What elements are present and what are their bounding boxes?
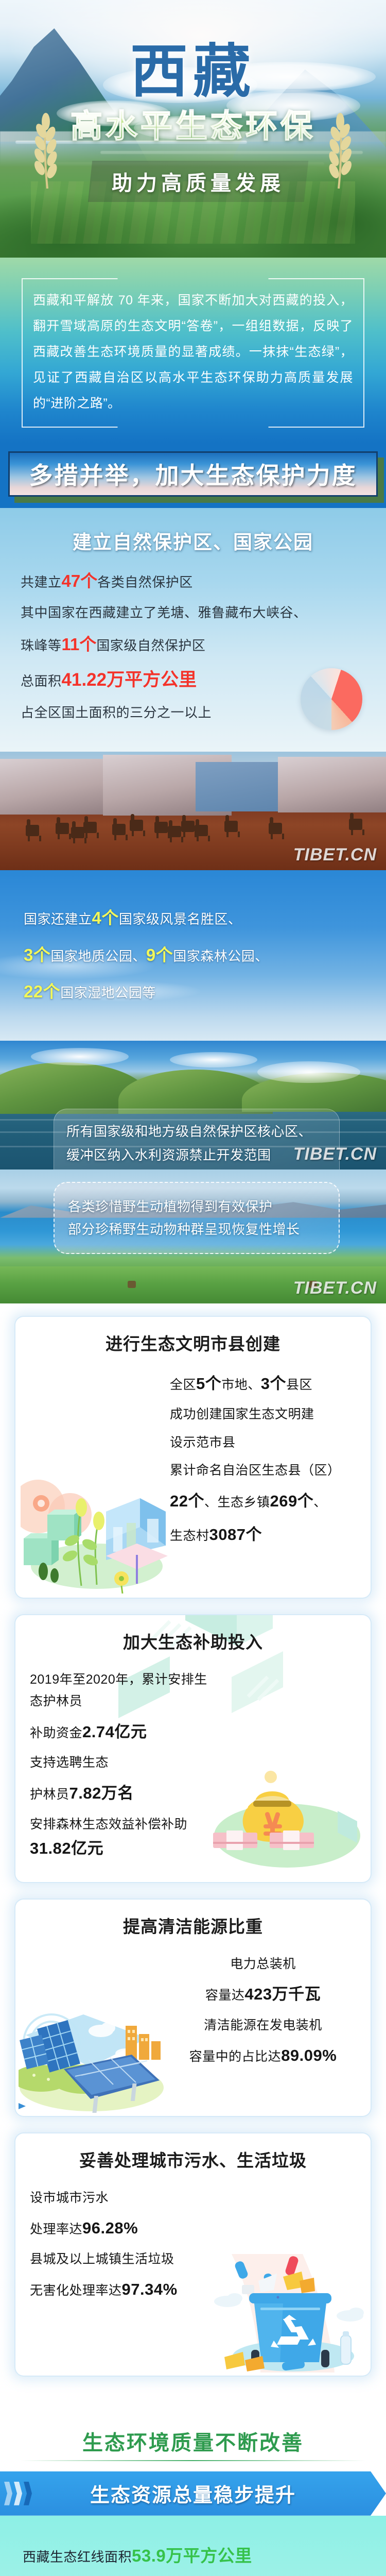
caption-line: 部分珍稀野生动物种群呈现恢复性增长	[68, 1218, 325, 1241]
stat-number: 31.82亿元	[30, 1839, 103, 1857]
stat-number: 423万千瓦	[244, 1985, 321, 2003]
stat-line: 22个、生态乡镇269个、	[170, 1488, 356, 1515]
stat-post: 各类自然保护区	[97, 574, 193, 590]
section1-banner-wrap: 多措并举，加大生态保护力度	[0, 443, 386, 508]
section1-banner: 多措并举，加大生态保护力度	[8, 451, 378, 497]
wildlife-protection-card: 各类珍惜野生动植物得到有效保护 部分珍稀野生动物种群呈现恢复性增长	[54, 1182, 340, 1254]
stat-number: 47个	[62, 571, 98, 590]
stat-line: 处理率达96.28%	[30, 2215, 216, 2242]
stat-line: 清洁能源在发电装机	[170, 2014, 356, 2037]
stat-line: 设市城市污水	[30, 2187, 216, 2209]
card-body: 全区5个市地、3个县区 成功创建国家生态文明建 设示范市县 累计命名自治区生态县…	[15, 1355, 371, 1568]
stat-line: 补助资金2.74亿元	[30, 1719, 216, 1746]
stat-number: 53.9万平方公里	[132, 2546, 252, 2565]
nature-reserve-header: 建立自然保护区、国家公园	[21, 527, 365, 554]
stat-pre: 共建立	[21, 574, 62, 590]
clean-energy-card: 提高清洁能源比重	[15, 1900, 371, 2116]
stat-number: 9个	[146, 945, 173, 964]
sewage-waste-card: 妥善处理城市污水、生活垃圾	[15, 2133, 371, 2376]
stat-line: 生态村3087个	[170, 1521, 356, 1549]
hero-banner: 西藏	[0, 0, 386, 258]
stat-line: 3个国家地质公园、9个国家森林公园、	[24, 942, 362, 968]
stat-line: 成功创建国家生态文明建	[170, 1403, 356, 1426]
eco-resource-stats: 西藏生态红线面积53.9万平方公里 占全区国土面积的45% 2020年，全区森林…	[0, 2516, 386, 2576]
stat-line: 共建立47个各类自然保护区	[21, 568, 365, 594]
hero-subtitle2: 助力高质量发展	[112, 166, 285, 196]
stat-number: 3087个	[209, 1526, 262, 1544]
stat-line: 安排森林生态效益补偿补助31.82亿元	[30, 1814, 216, 1862]
card-title: 妥善处理城市污水、生活垃圾	[15, 2133, 371, 2172]
ribbon-eco-resources: 生态资源总量稳步提升	[0, 2471, 386, 2516]
divider	[21, 2460, 365, 2461]
card-title: 进行生态文明市县创建	[15, 1317, 371, 1355]
protected-area-share-pie	[301, 668, 362, 730]
hero-subtitle2-plate: 助力高质量发展	[88, 161, 308, 202]
photo-watermark: TIBET.CN	[293, 1278, 377, 1298]
eco-county-card: 进行生态文明市县创建	[15, 1317, 371, 1598]
stat-number: 5个	[196, 1375, 221, 1393]
card-body: 设市城市污水 处理率达96.28% 县城及以上城镇生活垃圾 无害化处理率达97.…	[15, 2172, 371, 2323]
stat-line: 所有国家级和地方级自然保护区核心区、	[66, 1120, 327, 1143]
stat-number: 4个	[92, 908, 119, 927]
stat-number: 11个	[62, 635, 97, 654]
stat-line: 缓冲区纳入水利资源禁止开发范围	[66, 1143, 327, 1167]
card-body: 电力总装机 容量达423万千瓦 清洁能源在发电装机 容量中的占比达89.09%	[15, 1938, 371, 2089]
stat-line: 容量达423万千瓦	[170, 1981, 356, 2008]
stat-post: 国家湿地公园等	[60, 985, 156, 1001]
section1-banner-label: 多措并举，加大生态保护力度	[29, 457, 357, 491]
card-title: 加大生态补助投入	[15, 1615, 371, 1653]
stat-line: 县城及以上城镇生活垃圾	[30, 2248, 216, 2270]
wild-kiang-herd-photo: TIBET.CN	[0, 752, 386, 870]
hero-subtitle: 高水平生态环保	[0, 111, 386, 143]
photo-watermark: TIBET.CN	[293, 1144, 377, 1164]
stat-line: 支持选聘生态	[30, 1752, 216, 1774]
stat-number: 96.28%	[82, 2219, 138, 2237]
stat-pre: 国家还建立	[24, 911, 92, 927]
stat-pre: 其中国家在西藏建立了羌塘、雅鲁藏布大峡谷、	[21, 605, 307, 620]
stat-number: 7.82万名	[69, 1784, 134, 1802]
namtso-lake-antelope-photo: 各类珍惜野生动植物得到有效保护 部分珍稀野生动物种群呈现恢复性增长 TIBET.…	[0, 1170, 386, 1303]
stat-line: 珠峰等11个国家级自然保护区	[21, 631, 365, 657]
stat-post: 国家级风景名胜区、	[119, 911, 242, 927]
stat-number: 97.34%	[122, 2280, 178, 2298]
eco-subsidy-card: 加大生态补助投入	[15, 1615, 371, 1882]
card-title: 提高清洁能源比重	[15, 1900, 371, 1938]
intro-paragraph: 西藏和平解放 70 年来，国家不断加大对西藏的投入，翻开雪域高原的生态文明“答卷…	[24, 287, 362, 416]
stat-mid: 国家地质公园、	[50, 948, 146, 964]
stat-pre: 珠峰等	[21, 638, 62, 653]
stat-post: 国家级自然保护区	[96, 638, 205, 653]
stat-pre: 占全区国土面积的三分之一以上	[21, 705, 212, 720]
stat-line: 22个国家湿地公园等	[24, 979, 362, 1005]
intro-section: 西藏和平解放 70 年来，国家不断加大对西藏的投入，翻开雪域高原的生态文明“答卷…	[0, 258, 386, 443]
stat-line: 全区5个市地、3个县区	[170, 1370, 356, 1398]
hero-title: 西藏	[0, 43, 386, 101]
card-body: 2019年至2020年，累计安排生态护林员 补助资金2.74亿元 支持选聘生态 …	[15, 1653, 371, 1882]
stat-number: 2.74亿元	[82, 1723, 147, 1741]
stat-line: 无害化处理率达97.34%	[30, 2276, 216, 2303]
nature-reserve-block: 建立自然保护区、国家公园 共建立47个各类自然保护区 其中国家在西藏建立了羌塘、…	[0, 508, 386, 752]
stat-line: 电力总装机	[170, 1953, 356, 1975]
section2-green-title: 生态环境质量不断改善	[0, 2409, 386, 2464]
stat-line: 国家还建立4个国家级风景名胜区、	[24, 905, 362, 931]
section2-green-title-label: 生态环境质量不断改善	[82, 2431, 304, 2454]
ribbon1-wrap: 生态资源总量稳步提升	[0, 2464, 386, 2516]
stat-number: 22个	[24, 982, 60, 1001]
stat-number: 269个	[270, 1492, 314, 1510]
stat-line: 2019年至2020年，累计安排生态护林员	[30, 1669, 216, 1713]
stat-line: 容量中的占比达89.09%	[170, 2042, 356, 2070]
stat-number: 89.09%	[281, 2046, 337, 2064]
stat-cards-section: 进行生态文明市县创建	[0, 1303, 386, 2409]
stat-number: 3个	[261, 1375, 286, 1393]
stat-number: 22个	[170, 1492, 204, 1510]
photo-watermark: TIBET.CN	[293, 845, 377, 865]
infographic-page: 西藏	[0, 0, 386, 2576]
caption-line: 各类珍惜野生动植物得到有效保护	[68, 1195, 325, 1218]
ribbon-label: 生态资源总量稳步提升	[90, 2479, 296, 2507]
stat-line: 累计命名自治区生态县（区）	[170, 1460, 356, 1482]
stat-line: 西藏生态红线面积53.9万平方公里	[23, 2543, 363, 2569]
stat-post: 国家森林公园、	[173, 948, 269, 964]
chevron-right-icon	[4, 2482, 32, 2505]
national-parks-block: 国家还建立4个国家级风景名胜区、 3个国家地质公园、9个国家森林公园、 22个国…	[0, 870, 386, 1041]
stat-number: 3个	[24, 945, 50, 964]
stat-line: 其中国家在西藏建立了羌塘、雅鲁藏布大峡谷、	[21, 602, 365, 623]
stat-line: 设示范市县	[170, 1432, 356, 1454]
stat-pre: 总面积	[21, 673, 62, 689]
stat-line: 护林员7.82万名	[30, 1780, 216, 1807]
stat-number: 41.22万平方公里	[62, 670, 197, 690]
yamdrok-lake-photo: 所有国家级和地方级自然保护区核心区、 缓冲区纳入水利资源禁止开发范围 占全区河流…	[0, 1041, 386, 1170]
